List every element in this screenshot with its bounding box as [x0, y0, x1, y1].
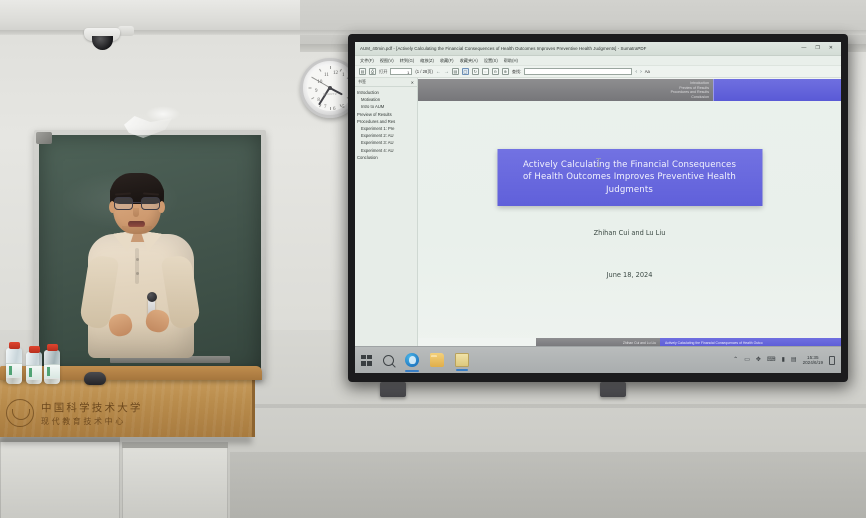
slide-nav-sections: Introduction Preview of Results Procedur…: [418, 79, 713, 101]
find-label: 查找:: [512, 69, 522, 75]
sidebar-header: 书签 ✕: [355, 78, 417, 87]
edge-active-indicator: [405, 370, 419, 372]
zoom-in-icon[interactable]: ⊕: [502, 68, 509, 75]
sumatrapdf-window: AUM_40min.pdf - [Actively Calculating th…: [355, 42, 841, 347]
org-name-line1: 中国科学技术大学: [41, 400, 143, 415]
taskbar-date: 2024/6/19: [803, 360, 823, 365]
bottle-label-2: [26, 365, 42, 380]
window-body: 书签 ✕ Introduction Motivation Intro to AU…: [355, 78, 841, 347]
nose: [133, 208, 139, 217]
slide-section-nav: Introduction Preview of Results Procedur…: [418, 79, 841, 101]
lens-left: [114, 197, 133, 210]
bottle-label-1: [6, 363, 22, 378]
windows-taskbar: ⌃ ▭ ✥ ⌨ ▮ ▤ 15:35 2024/6/19: [355, 346, 841, 373]
computer-mouse: [84, 372, 106, 385]
front-desk-left: [0, 440, 120, 518]
bookmarks-sidebar: 书签 ✕ Introduction Motivation Intro to AU…: [355, 78, 418, 347]
single-page-view-icon[interactable]: ▤: [452, 68, 459, 75]
glasses-bridge: [133, 202, 141, 203]
taskbar-clock[interactable]: 15:35 2024/6/19: [803, 355, 823, 366]
pdf-active-indicator: [456, 369, 468, 371]
volume-icon[interactable]: ▮: [782, 357, 785, 363]
slide-page: Introduction Preview of Results Procedur…: [418, 79, 841, 347]
bookmark-experiment-4[interactable]: Experiment 4: AU: [357, 147, 417, 154]
slide-authors: Zhihan Cui and Lu Liu: [594, 229, 666, 237]
lens-right: [141, 197, 160, 210]
bookmark-conclusion[interactable]: Conclusion: [357, 154, 417, 161]
menu-bar: 文件(F) 视图(V) 转到(G) 缩放(Z) 收藏(F) 收藏夹(A) 设置(…: [355, 56, 841, 66]
menu-favorites-list[interactable]: 收藏夹(A): [460, 58, 478, 64]
clock-tick: [308, 88, 330, 89]
clock-numeral: 10: [317, 80, 322, 85]
maximize-button[interactable]: ❐: [815, 46, 819, 51]
bottle-label-3: [44, 364, 60, 379]
bookmark-intro-to-aum[interactable]: Intro to AUM: [357, 103, 417, 110]
menu-zoom[interactable]: 缩放(Z): [420, 58, 434, 64]
chin-shadow: [122, 226, 152, 234]
clock-numeral: 8: [317, 98, 320, 103]
window-titlebar[interactable]: AUM_40min.pdf - [Actively Calculating th…: [355, 42, 841, 56]
clock-numeral: 6: [333, 107, 336, 112]
front-desk-right: [230, 452, 866, 518]
menu-view[interactable]: 视图(V): [380, 58, 394, 64]
university-seal-icon: [6, 399, 34, 427]
presentation-display: AUM_40min.pdf - [Actively Calculating th…: [348, 34, 848, 382]
sidebar-close-icon[interactable]: ✕: [411, 80, 414, 85]
slide-title-line2: of Health Outcomes Improves Preventive H…: [505, 171, 754, 183]
menu-goto[interactable]: 转到(G): [400, 58, 414, 64]
find-input[interactable]: [524, 68, 632, 76]
taskbar-apps: [361, 353, 469, 367]
window-title: AUM_40min.pdf - [Actively Calculating th…: [360, 46, 801, 51]
polo-button-2: [136, 272, 139, 275]
next-page-button[interactable]: →: [444, 69, 449, 75]
clock-numeral: 11: [324, 73, 329, 78]
menu-file[interactable]: 文件(F): [360, 58, 374, 64]
bookmark-list: Introduction Motivation Intro to AUM Pre…: [355, 87, 417, 347]
footer-title: Actively Calculating the Financial Conse…: [665, 341, 763, 345]
fit-page-icon[interactable]: ◌: [482, 68, 489, 75]
clock-numeral: 7: [324, 105, 327, 110]
network-icon[interactable]: ▭: [744, 357, 750, 363]
bookmark-experiment-3[interactable]: Experiment 3: AU: [357, 139, 417, 146]
chevron-up-icon[interactable]: ⌃: [733, 357, 738, 363]
slide-nav-accent-block: [713, 79, 841, 101]
clock-numeral: 1: [342, 73, 345, 78]
microphone-head-icon: [147, 292, 157, 302]
bookmark-procedures-and-results[interactable]: Procedures and Res: [357, 118, 417, 125]
menu-favorites[interactable]: 收藏(F): [440, 58, 454, 64]
page-number-input[interactable]: 1: [390, 68, 412, 76]
clock-tick: [330, 88, 331, 110]
slide-body: Actively Calculating the Financial Conse…: [418, 101, 841, 338]
text-cursor-icon: [598, 158, 599, 167]
bookmark-preview-of-results[interactable]: Preview of Results: [357, 111, 417, 118]
window-controls: — ❐ ✕: [801, 46, 839, 51]
battery-icon[interactable]: ▤: [791, 357, 797, 363]
print-icon[interactable]: ⎙: [369, 68, 376, 75]
slide-date: June 18, 2024: [607, 271, 653, 279]
polo-button-1: [136, 258, 139, 261]
clock-numeral: 5: [342, 105, 345, 110]
minimize-button[interactable]: —: [801, 46, 806, 51]
bookmark-introduction[interactable]: Introduction: [357, 89, 417, 96]
chalkboard-corner-bracket: [36, 132, 52, 144]
org-name-line2: 现代教育技术中心: [41, 416, 143, 427]
screen-content: AUM_40min.pdf - [Actively Calculating th…: [355, 42, 841, 373]
zoom-out-icon[interactable]: ⊖: [492, 68, 499, 75]
find-previous-button[interactable]: ‹: [635, 69, 637, 75]
page-label: 打开: [379, 69, 387, 75]
bookmark-experiment-1[interactable]: Experiment 1: Pre: [357, 125, 417, 132]
rotate-icon[interactable]: ↻: [472, 68, 479, 75]
lecture-hall-photo: QUARTZ 121234567891011 中国科学技术大学 现代教育技术中心: [0, 0, 866, 518]
page-total-label: (1 / 28页): [415, 69, 432, 75]
windows-start-icon[interactable]: [361, 355, 372, 366]
bottle-cap-1: [9, 342, 20, 349]
input-method-icon[interactable]: ⌨: [767, 357, 776, 363]
nav-section-conclusion: Conclusion: [691, 95, 709, 99]
sidebar-title: 书签: [358, 79, 366, 85]
taskbar-tray: ⌃ ▭ ✥ ⌨ ▮ ▤ 15:35 2024/6/19: [733, 355, 835, 366]
open-file-icon[interactable]: ▤: [359, 68, 366, 75]
menu-settings[interactable]: 设置(S): [484, 58, 498, 64]
camera-bracket: [118, 26, 134, 36]
sumatrapdf-icon[interactable]: [455, 353, 469, 367]
file-explorer-icon[interactable]: [430, 353, 444, 367]
previous-page-button[interactable]: ←: [436, 69, 441, 75]
close-button[interactable]: ✕: [829, 46, 833, 51]
podium-logo: 中国科学技术大学 现代教育技术中心: [6, 396, 248, 430]
clock-numeral: 9: [315, 89, 318, 94]
presenter: [82, 172, 200, 372]
front-desk-center: [122, 446, 228, 518]
wall-scuff: [146, 106, 180, 122]
bottle-cap-2: [29, 346, 40, 353]
show-desktop-button[interactable]: [829, 356, 835, 365]
bluetooth-icon[interactable]: ✥: [756, 357, 761, 363]
pdf-viewport[interactable]: Introduction Preview of Results Procedur…: [418, 78, 841, 347]
menu-help[interactable]: 帮助(H): [504, 58, 518, 64]
bookmark-motivation[interactable]: Motivation: [357, 96, 417, 103]
edge-browser-icon[interactable]: [405, 353, 419, 367]
polo-placket: [135, 248, 139, 284]
bottle-cap-3: [47, 344, 58, 351]
facing-pages-view-icon[interactable]: ▢: [462, 68, 469, 75]
slide-title-line1: Actively Calculating the Financial Conse…: [505, 159, 754, 171]
wall-mount-left: [380, 382, 406, 397]
bookmark-experiment-2[interactable]: Experiment 2: AU: [357, 132, 417, 139]
podium-logo-text: 中国科学技术大学 现代教育技术中心: [41, 400, 143, 427]
search-icon[interactable]: [383, 355, 394, 366]
footer-authors: Zhihan Cui and Lu Liu: [623, 341, 656, 345]
wall-mount-right: [600, 382, 626, 397]
match-case-icon[interactable]: Aa: [645, 69, 650, 74]
find-next-button[interactable]: ›: [640, 69, 642, 75]
slide-title-line3: Judgments: [505, 184, 754, 196]
toolbar: ▤ ⎙ 打开 1 (1 / 28页) ← → ▤ ▢ ↻ ◌ ⊖ ⊕ 查找: ‹: [355, 66, 841, 78]
slide-title-card: Actively Calculating the Financial Conse…: [497, 149, 762, 206]
